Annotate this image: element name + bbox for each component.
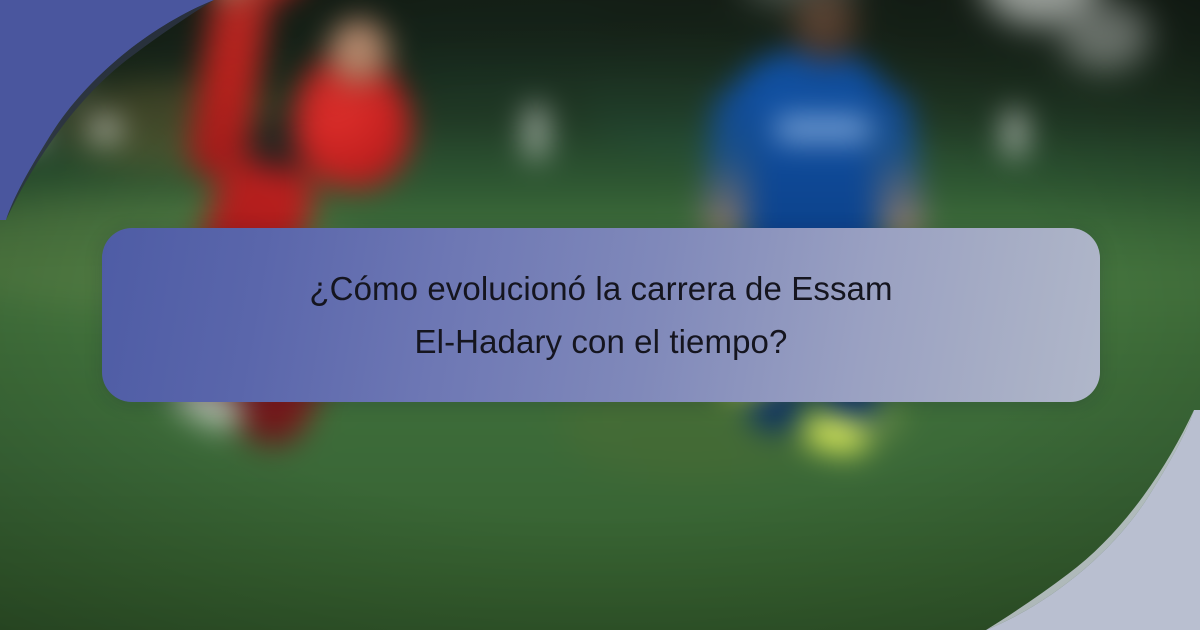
social-card-canvas: ¿Cómo evolucionó la carrera de Essam El-…: [0, 0, 1200, 630]
question-card: ¿Cómo evolucionó la carrera de Essam El-…: [102, 228, 1100, 402]
question-text: ¿Cómo evolucionó la carrera de Essam El-…: [251, 262, 951, 369]
